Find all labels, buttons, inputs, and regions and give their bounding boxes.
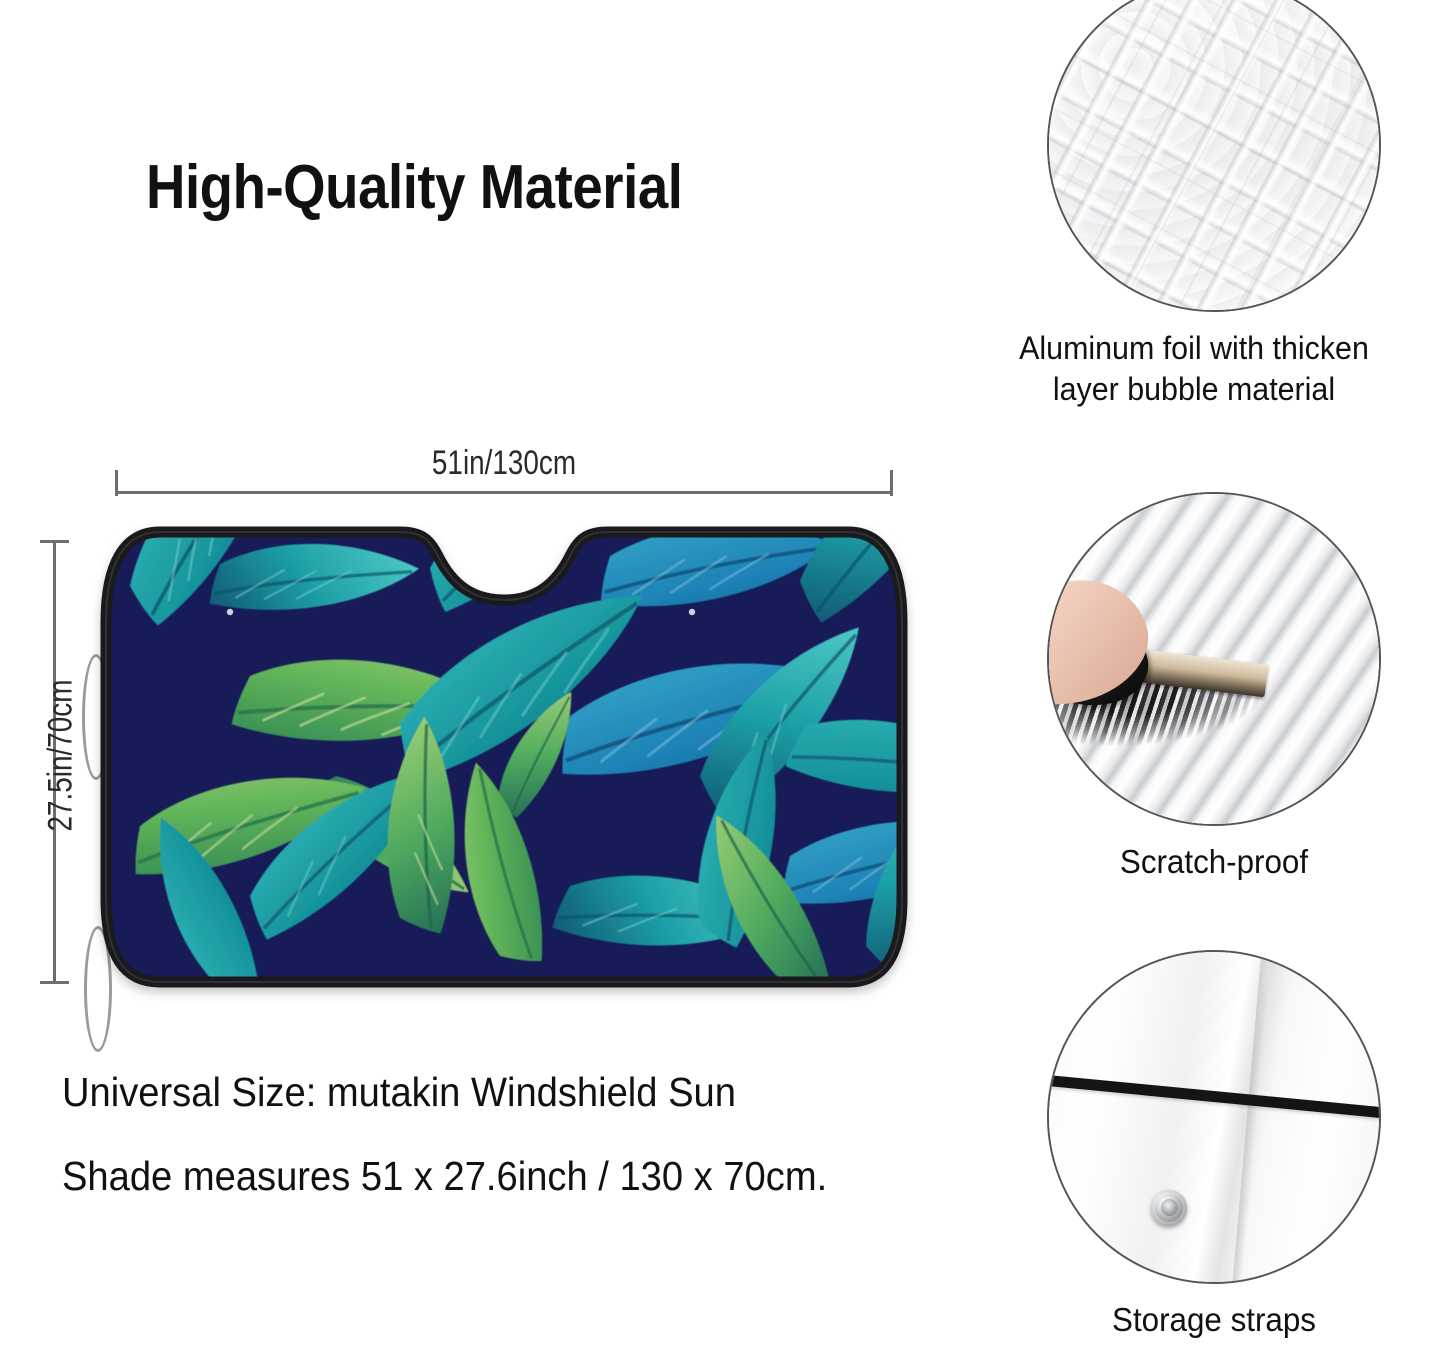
bubble-foil-texture bbox=[1047, 0, 1381, 312]
width-dimension-cap-right bbox=[890, 470, 893, 496]
storage-straps-photo bbox=[1047, 950, 1381, 1284]
caption-line-1: Universal Size: mutakin Windshield Sun bbox=[62, 1050, 983, 1134]
feature-scratch-proof-caption: Scratch-proof bbox=[1037, 842, 1390, 882]
feature-aluminum-foil-caption: Aluminum foil with thicken layer bubble … bbox=[995, 328, 1394, 410]
height-dimension-label: 27.5in/70cm bbox=[42, 583, 81, 927]
feature-aluminum-foil: Aluminum foil with thicken layer bubble … bbox=[1028, 0, 1400, 410]
feature-1-caption-line-2: layer bubble material bbox=[995, 369, 1394, 410]
width-dimension-line bbox=[115, 491, 893, 494]
page-title: High-Quality Material bbox=[146, 152, 682, 223]
width-dimension-label: 51in/130cm bbox=[185, 444, 823, 483]
feature-storage-straps: Storage straps bbox=[1028, 950, 1400, 1340]
infographic-page: High-Quality Material 51in/130cm 27.5in/… bbox=[0, 0, 1441, 1358]
feature-storage-straps-caption: Storage straps bbox=[1037, 1300, 1390, 1340]
width-dimension: 51in/130cm bbox=[115, 444, 893, 494]
product-image bbox=[78, 526, 908, 994]
scratch-proof-photo bbox=[1047, 492, 1381, 826]
width-dimension-cap-left bbox=[115, 470, 118, 496]
bubble-foil-photo bbox=[1047, 0, 1381, 312]
product-size-caption: Universal Size: mutakin Windshield Sun S… bbox=[62, 1050, 983, 1218]
sun-shade-graphic bbox=[100, 526, 908, 988]
height-dimension-cap-top bbox=[40, 540, 69, 543]
height-dimension-cap-bottom bbox=[40, 981, 69, 984]
feature-1-caption-line-1: Aluminum foil with thicken bbox=[995, 328, 1394, 369]
height-dimension: 27.5in/70cm bbox=[24, 540, 84, 984]
rolled-shade bbox=[1049, 952, 1379, 1282]
metal-snap-button bbox=[1151, 1190, 1187, 1226]
caption-line-2: Shade measures 51 x 27.6inch / 130 x 70c… bbox=[62, 1134, 983, 1218]
feature-scratch-proof: Scratch-proof bbox=[1028, 492, 1400, 882]
